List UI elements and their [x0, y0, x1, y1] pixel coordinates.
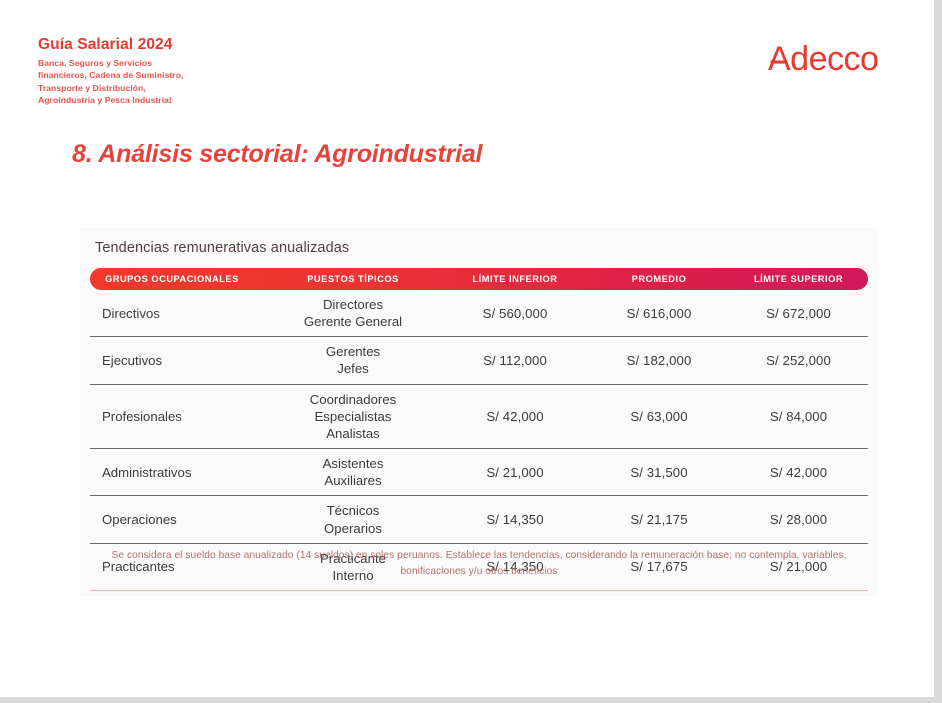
table-header: GRUPOS OCUPACIONALES PUESTOS TÍPICOS LÍM… — [90, 268, 868, 290]
cell-group: Operaciones — [90, 496, 265, 543]
column-header-grupos: GRUPOS OCUPACIONALES — [90, 268, 265, 290]
cell-group: Ejecutivos — [90, 337, 265, 384]
svg-text:Adecco: Adecco — [768, 40, 878, 78]
table-body: Directivos Directores Gerente General S/… — [90, 290, 868, 591]
job-line: Analistas — [265, 425, 441, 442]
job-line: Auxiliares — [265, 472, 441, 489]
cell-average: S/ 63,000 — [589, 384, 729, 448]
cell-lower: S/ 14,350 — [441, 496, 589, 543]
column-header-limite-superior: LÍMITE SUPERIOR — [729, 268, 868, 290]
guide-title: Guía Salarial 2024 — [38, 36, 368, 54]
table-footnote: Se considera el sueldo base anualizado (… — [94, 548, 864, 580]
cell-jobs: Técnicos Operarios — [265, 496, 441, 543]
cell-jobs: Asistentes Auxiliares — [265, 449, 441, 496]
cell-upper: S/ 42,000 — [729, 449, 868, 496]
table-row: Profesionales Coordinadores Especialista… — [90, 384, 868, 448]
job-line: Jefes — [265, 360, 441, 377]
guide-subtitle-line-3: Transporte y Distribución, — [38, 82, 368, 94]
cell-jobs: Gerentes Jefes — [265, 337, 441, 384]
guide-subtitle: Banca, Seguros y Servicios financieros, … — [38, 57, 368, 107]
cell-average: S/ 21,175 — [589, 496, 729, 543]
cell-average: S/ 31,500 — [589, 449, 729, 496]
job-line: Directores — [265, 296, 441, 313]
cell-upper: S/ 28,000 — [729, 496, 868, 543]
job-line: Coordinadores — [265, 391, 441, 408]
page-title: 8. Análisis sectorial: Agroindustrial — [72, 140, 482, 169]
table-row: Ejecutivos Gerentes Jefes S/ 112,000 S/ … — [90, 337, 868, 384]
panel-title: Tendencias remunerativas anualizadas — [95, 240, 349, 256]
salary-table: GRUPOS OCUPACIONALES PUESTOS TÍPICOS LÍM… — [90, 268, 868, 591]
guide-subtitle-line-1: Banca, Seguros y Servicios — [38, 57, 368, 69]
cell-group: Administrativos — [90, 449, 265, 496]
job-line: Gerente General — [265, 313, 441, 330]
slide-canvas: Guía Salarial 2024 Banca, Seguros y Serv… — [0, 0, 942, 703]
salary-table-panel: Tendencias remunerativas anualizadas GRU… — [80, 228, 878, 596]
cell-jobs: Coordinadores Especialistas Analistas — [265, 384, 441, 448]
job-line: Gerentes — [265, 343, 441, 360]
cell-jobs: Directores Gerente General — [265, 290, 441, 337]
guide-subtitle-line-4: Agroindustria y Pesca Industrial — [38, 94, 368, 106]
adecco-logo: Adecco — [768, 38, 898, 80]
cell-group: Profesionales — [90, 384, 265, 448]
slide-page: Guía Salarial 2024 Banca, Seguros y Serv… — [0, 0, 928, 697]
brand-block: Guía Salarial 2024 Banca, Seguros y Serv… — [38, 36, 368, 107]
column-header-promedio: PROMEDIO — [589, 268, 729, 290]
job-line: Asistentes — [265, 455, 441, 472]
table-row: Directivos Directores Gerente General S/… — [90, 290, 868, 337]
table-row: Administrativos Asistentes Auxiliares S/… — [90, 449, 868, 496]
job-line: Operarios — [265, 520, 441, 537]
cell-lower: S/ 21,000 — [441, 449, 589, 496]
cell-lower: S/ 42,000 — [441, 384, 589, 448]
cell-upper: S/ 252,000 — [729, 337, 868, 384]
column-header-puestos: PUESTOS TÍPICOS — [265, 268, 441, 290]
adecco-logo-icon: Adecco — [768, 38, 898, 80]
cell-upper: S/ 84,000 — [729, 384, 868, 448]
column-header-limite-inferior: LÍMITE INFERIOR — [441, 268, 589, 290]
job-line: Técnicos — [265, 502, 441, 519]
cell-average: S/ 616,000 — [589, 290, 729, 337]
cell-upper: S/ 672,000 — [729, 290, 868, 337]
guide-subtitle-line-2: financieros, Cadena de Suministro, — [38, 69, 368, 81]
table-row: Operaciones Técnicos Operarios S/ 14,350… — [90, 496, 868, 543]
cell-group: Directivos — [90, 290, 265, 337]
cell-lower: S/ 112,000 — [441, 337, 589, 384]
cell-lower: S/ 560,000 — [441, 290, 589, 337]
job-line: Especialistas — [265, 408, 441, 425]
cell-average: S/ 182,000 — [589, 337, 729, 384]
table-header-row: GRUPOS OCUPACIONALES PUESTOS TÍPICOS LÍM… — [90, 268, 868, 290]
